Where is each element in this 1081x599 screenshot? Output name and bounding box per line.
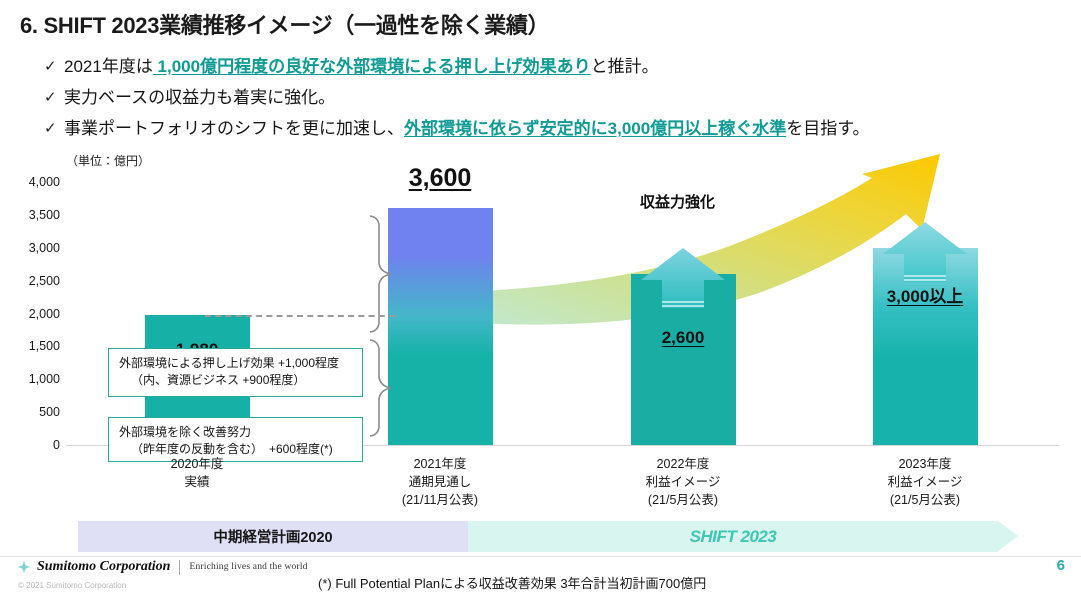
bullet-post: を目指す。	[786, 119, 869, 138]
check-icon: ✓	[44, 56, 64, 78]
list-item: ✓ 2021年度は 1,000億円程度の良好な外部環境による押し上げ効果ありと推…	[44, 56, 1044, 78]
page-number: 6	[1057, 557, 1065, 574]
bar-2	[388, 208, 493, 445]
footer-divider	[0, 556, 1081, 557]
x-axis-category-2: 2021年度通期見通し(21/11月公表)	[402, 455, 478, 509]
bullet-text: 2021年度は 1,000億円程度の良好な外部環境による押し上げ効果ありと推計。	[64, 56, 659, 78]
bullet-list: ✓ 2021年度は 1,000億円程度の良好な外部環境による押し上げ効果ありと推…	[44, 56, 1044, 149]
x-axis-category-4: 2023年度利益イメージ(21/5月公表)	[888, 455, 963, 509]
company-name: Sumitomo Corporation	[37, 559, 170, 575]
category-line: (21/5月公表)	[646, 491, 721, 509]
band-arrow-icon	[998, 521, 1018, 551]
diamond-logo-icon	[18, 561, 30, 573]
bullet-highlight: 外部環境に依らず安定的に3,000億円以上稼ぐ水準	[404, 119, 786, 138]
category-line: 実績	[171, 473, 224, 491]
bullet-pre: 2021年度は	[64, 57, 153, 76]
earnings-power-label: 収益力強化	[640, 191, 715, 212]
callout-line: 外部環境を除く改善努力	[119, 424, 354, 441]
page-title: 6. SHIFT 2023業績推移イメージ（一過性を除く業績）	[20, 8, 549, 40]
bar-value-label: 3,000以上	[887, 282, 964, 307]
category-line: 2023年度	[888, 455, 963, 473]
plan-timeline-band: 中期経営計画2020 SHIFT 2023	[78, 521, 1018, 552]
callout-line: （昨年度の反動を含む） +600程度(*)	[119, 441, 354, 458]
copyright-text: © 2021 Sumitomo Corporation	[18, 581, 126, 590]
external-environment-callout: 外部環境による押し上げ効果 +1,000程度 （内、資源ビジネス +900程度）	[108, 348, 363, 397]
x-axis-category-1: 2020年度実績	[171, 455, 224, 491]
company-tagline: Enriching lives and the world	[189, 562, 307, 572]
category-line: 利益イメージ	[646, 473, 721, 491]
bullet-highlight: 1,000億円程度の良好な外部環境による押し上げ効果あり	[153, 57, 591, 76]
category-line: (21/11月公表)	[402, 491, 478, 509]
category-line: (21/5月公表)	[888, 491, 963, 509]
category-line: 利益イメージ	[888, 473, 963, 491]
shift-2023-logo: SHIFT 2023	[690, 527, 777, 547]
check-icon: ✓	[44, 87, 64, 109]
bar-3	[631, 274, 736, 445]
list-item: ✓ 事業ポートフォリオのシフトを更に加速し、外部環境に依らず安定的に3,000億…	[44, 118, 1044, 140]
bullet-pre: 実力ベースの収益力も着実に強化。	[64, 88, 335, 107]
list-item: ✓ 実力ベースの収益力も着実に強化。	[44, 87, 1044, 109]
bullet-pre: 事業ポートフォリオのシフトを更に加速し、	[64, 119, 404, 138]
footnote-text: (*) Full Potential Planによる収益改善効果 3年合計当初計…	[318, 573, 706, 592]
category-line: 2021年度	[402, 455, 478, 473]
category-line: 2020年度	[171, 455, 224, 473]
bullet-text: 事業ポートフォリオのシフトを更に加速し、外部環境に依らず安定的に3,000億円以…	[64, 118, 870, 140]
callout-line: （内、資源ビジネス +900程度）	[119, 372, 354, 389]
category-line: 通期見通し	[402, 473, 478, 491]
bullet-post: と推計。	[591, 57, 659, 76]
company-logo: Sumitomo Corporation Enriching lives and…	[18, 559, 308, 575]
bar-4	[873, 248, 978, 445]
logo-divider	[179, 560, 180, 575]
bar-value-label: 2,600	[662, 328, 705, 348]
bar-chart: （単位：億円） 4,0003,5003,0002,5002,0001,5001,…	[0, 150, 1081, 460]
bar-value-label: 3,600	[409, 164, 472, 193]
band-segment-shift2023: SHIFT 2023	[468, 521, 998, 552]
bullet-text: 実力ベースの収益力も着実に強化。	[64, 87, 335, 109]
baseline-dashed-line	[205, 315, 395, 317]
improvement-effort-callout: 外部環境を除く改善努力 （昨年度の反動を含む） +600程度(*)	[108, 417, 363, 462]
callout-line: 外部環境による押し上げ効果 +1,000程度	[119, 355, 354, 372]
check-icon: ✓	[44, 118, 64, 140]
slide-canvas: 6. SHIFT 2023業績推移イメージ（一過性を除く業績） ✓ 2021年度…	[0, 0, 1081, 599]
category-line: 2022年度	[646, 455, 721, 473]
brace-icon	[366, 210, 402, 465]
band-segment-midterm: 中期経営計画2020	[78, 521, 468, 552]
x-axis-category-3: 2022年度利益イメージ(21/5月公表)	[646, 455, 721, 509]
